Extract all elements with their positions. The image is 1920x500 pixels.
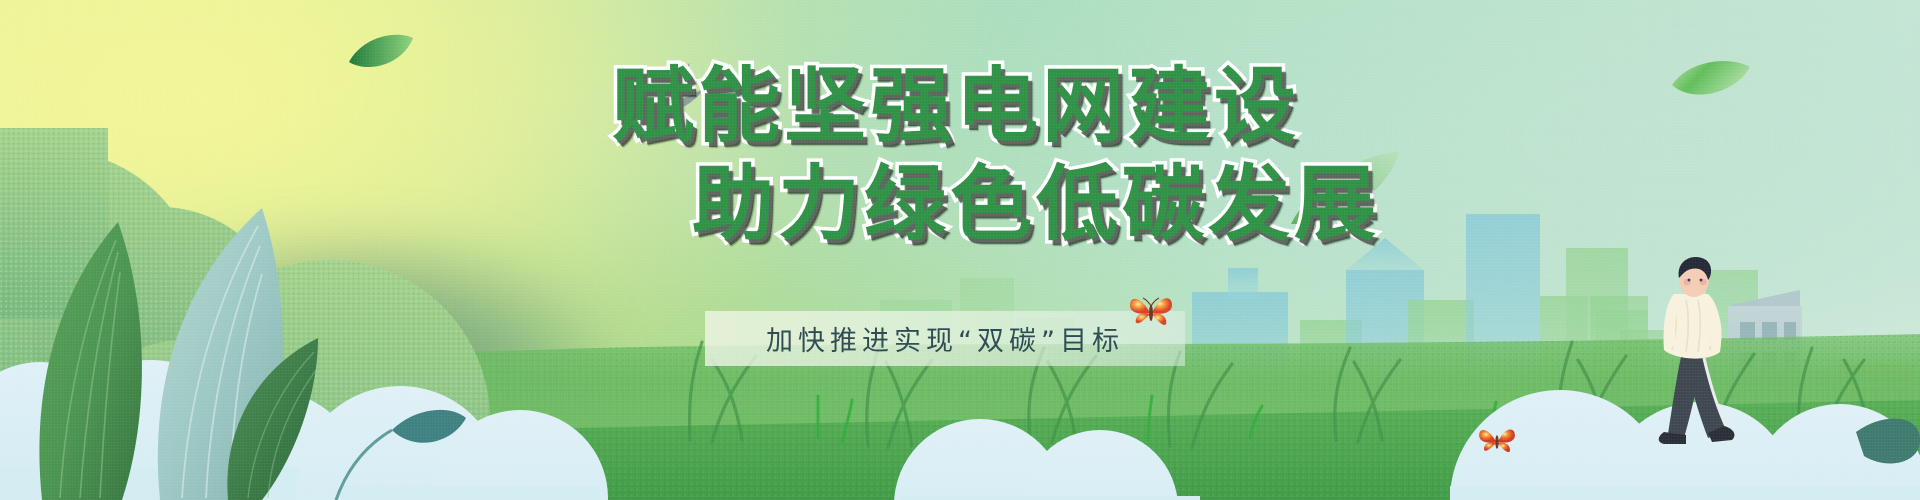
swallow-icon (612, 57, 716, 119)
floating-leaf-middle (1285, 150, 1405, 230)
walking-person (1646, 252, 1756, 452)
butterfly-icon-center (1128, 293, 1174, 333)
subtitle-text: 加快推进实现“双碳”目标 (766, 319, 1124, 358)
subtitle-bar: 加快推进实现“双碳”目标 (705, 311, 1185, 366)
floating-leaf-top-right (1668, 55, 1754, 107)
center-bottom-clouds (894, 419, 1200, 500)
eco-power-banner: 赋能坚强电网建设 助力绿色低碳发展 加快推进实现“双碳”目标 (0, 0, 1920, 500)
floating-leaf-top-left (345, 30, 417, 74)
foreground-decor (0, 0, 1920, 500)
butterfly-icon-right (1477, 425, 1517, 459)
